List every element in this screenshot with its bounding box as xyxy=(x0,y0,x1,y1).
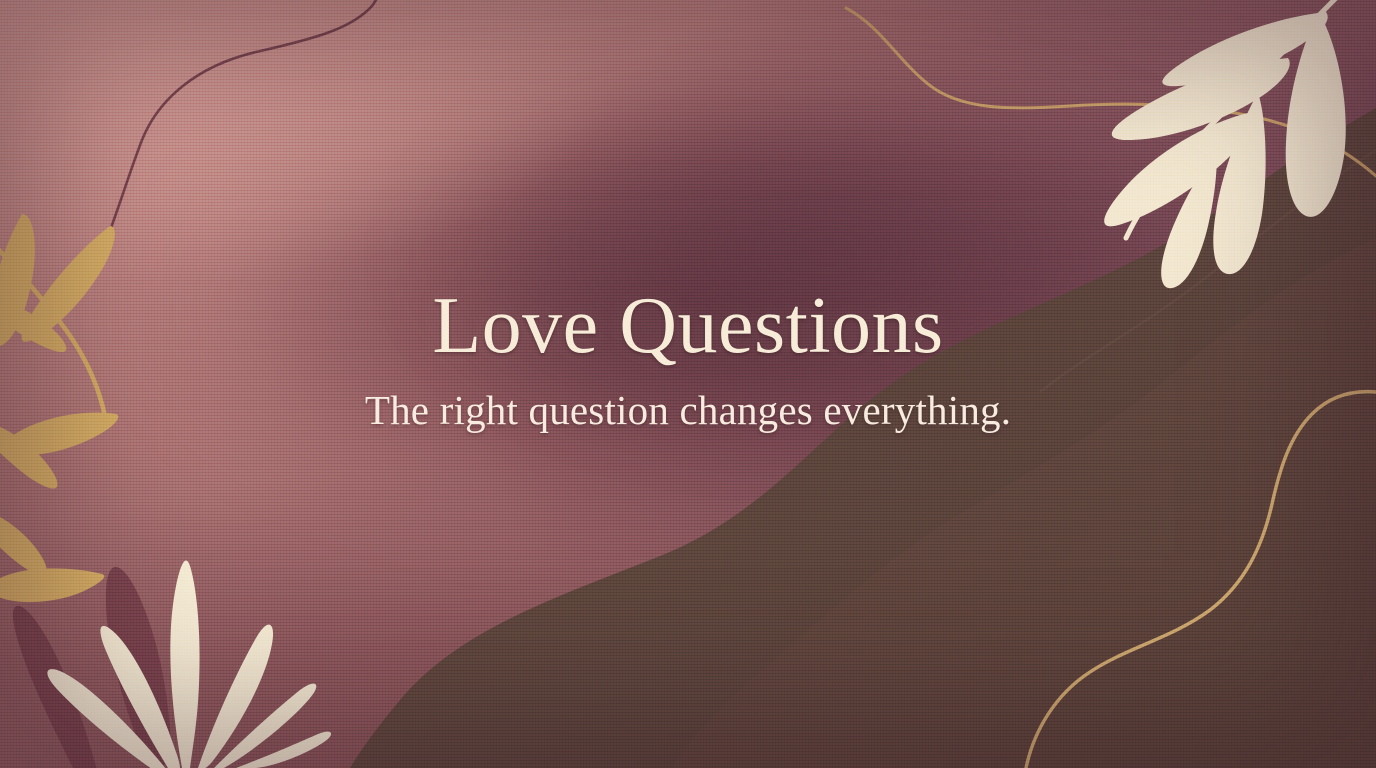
leaf-branch-top-right xyxy=(1104,0,1346,288)
page-title: Love Questions xyxy=(0,286,1376,366)
slide-canvas: Love Questions The right question change… xyxy=(0,0,1376,768)
wave-shape-bottom-right xyxy=(350,108,1376,768)
agave-shadow-blades xyxy=(13,562,181,768)
gold-line-top-right xyxy=(846,8,1376,176)
wavy-line-top-left xyxy=(96,0,381,268)
page-subtitle: The right question changes everything. xyxy=(0,388,1376,433)
title-block: Love Questions The right question change… xyxy=(0,286,1376,433)
agave-plant-bottom-left xyxy=(47,560,331,768)
gold-line-right xyxy=(1026,392,1376,768)
